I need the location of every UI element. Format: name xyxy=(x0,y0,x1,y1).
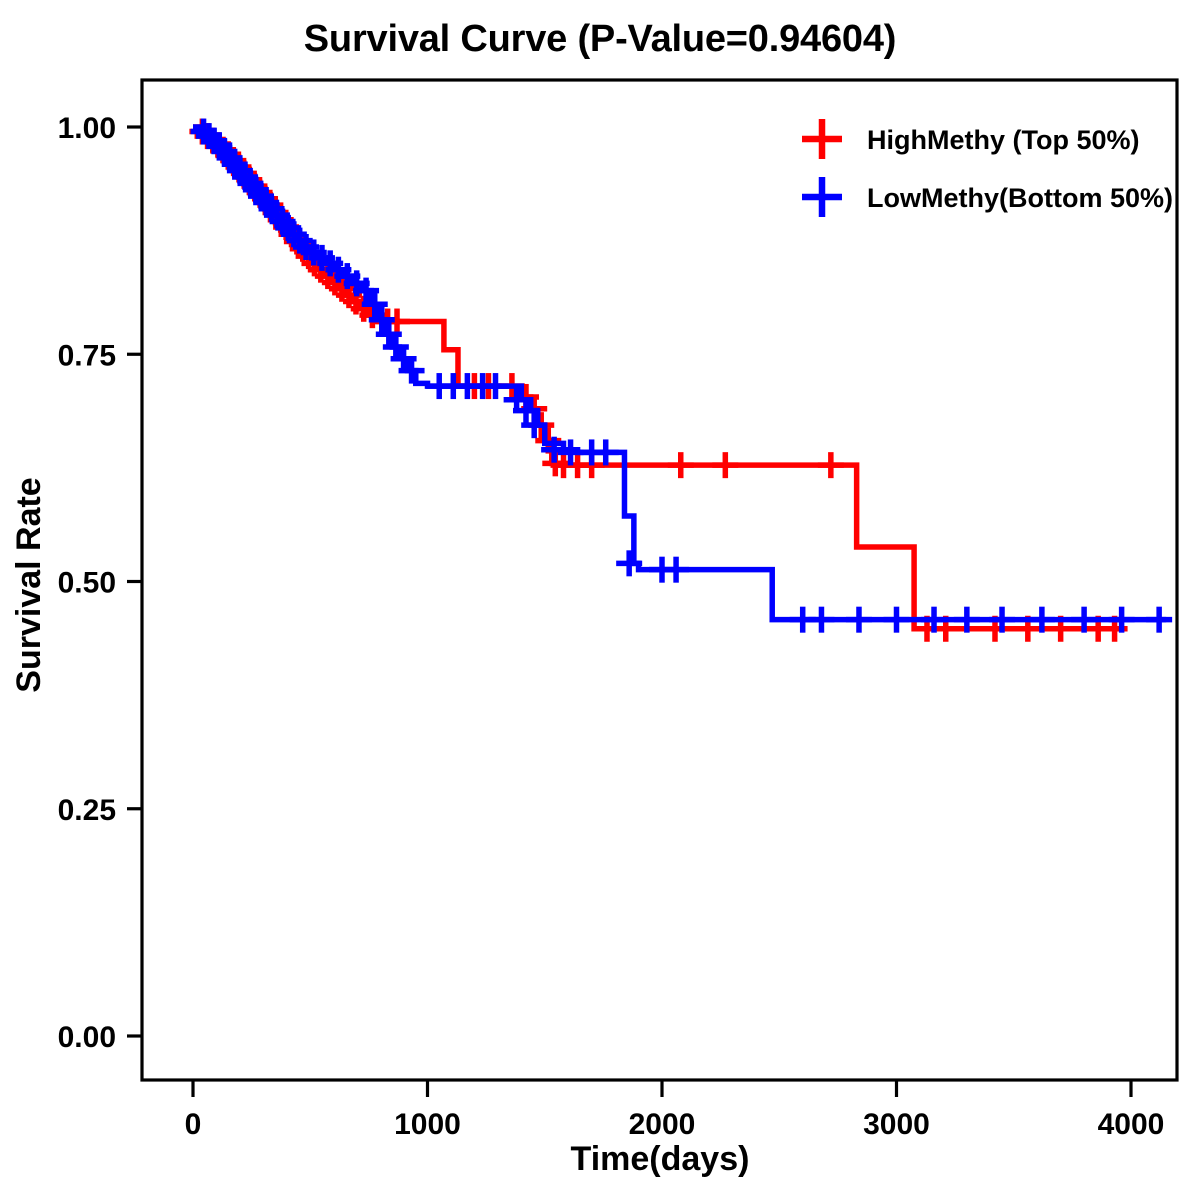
censor-mark xyxy=(668,452,694,478)
y-tick-label: 1.00 xyxy=(58,112,116,145)
censor-mark xyxy=(846,607,872,633)
legend-entry-low-methy: LowMethy(Bottom 50%) xyxy=(802,177,1173,217)
y-tick-label: 0.25 xyxy=(58,794,116,827)
y-tick-label: 0.50 xyxy=(58,567,116,600)
legend-entry-label: HighMethy (Top 50%) xyxy=(867,125,1140,155)
x-tick-label: 3000 xyxy=(863,1108,930,1141)
legend-entry-high-methy: HighMethy (Top 50%) xyxy=(802,119,1140,159)
y-tick-label: 0.75 xyxy=(58,339,116,372)
x-axis-title: Time(days) xyxy=(571,1140,750,1178)
x-axis-ticks: 01000200030004000 xyxy=(185,1080,1165,1141)
censor-mark xyxy=(663,557,689,583)
survival-curve-plot: 0.000.250.500.751.00 01000200030004000 H… xyxy=(0,0,1200,1200)
y-tick-label: 0.00 xyxy=(58,1021,116,1054)
y-axis-title: Survival Rate xyxy=(10,477,48,692)
censor-mark xyxy=(818,452,844,478)
legend-entry-label: LowMethy(Bottom 50%) xyxy=(867,183,1173,213)
censor-mark xyxy=(593,439,619,465)
y-axis-ticks: 0.000.250.500.751.00 xyxy=(58,112,142,1054)
censor-mark xyxy=(1146,607,1172,633)
x-tick-label: 4000 xyxy=(1098,1108,1165,1141)
x-tick-label: 2000 xyxy=(629,1108,696,1141)
censor-mark xyxy=(884,607,910,633)
x-tick-label: 1000 xyxy=(394,1108,461,1141)
chart-page: Survival Curve (P-Value=0.94604) 0.000.2… xyxy=(0,0,1200,1200)
censor-mark xyxy=(712,452,738,478)
censor-mark xyxy=(808,607,834,633)
chart-legend: HighMethy (Top 50%)LowMethy(Bottom 50%) xyxy=(802,119,1173,217)
x-tick-label: 0 xyxy=(185,1108,202,1141)
